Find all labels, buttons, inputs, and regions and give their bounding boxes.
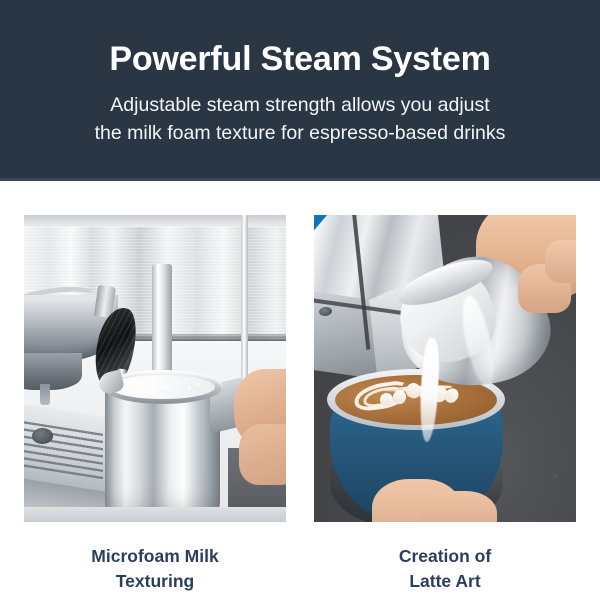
header-banner: Powerful Steam System Adjustable steam s… xyxy=(0,0,600,181)
promo-banner-page: Powerful Steam System Adjustable steam s… xyxy=(0,0,600,600)
header-subtitle: Adjustable steam strength allows you adj… xyxy=(95,92,506,147)
hand-fingers xyxy=(239,424,286,485)
caption-microfoam-line-2: Texturing xyxy=(24,569,286,594)
photo-microfoam-milk-texturing xyxy=(24,215,286,522)
feature-panel-latte-art: Creation of Latte Art xyxy=(314,215,576,595)
finger-holding-cup xyxy=(419,491,498,522)
caption-latte-art-line-2: Latte Art xyxy=(314,569,576,594)
portafilter-spout xyxy=(40,384,50,405)
microfoam-bubbles xyxy=(118,376,207,396)
photo-bottom-edge xyxy=(24,507,286,522)
page-title: Powerful Steam System xyxy=(109,40,490,79)
caption-microfoam: Microfoam Milk Texturing xyxy=(24,544,286,595)
portafilter xyxy=(24,353,82,390)
caption-latte-art: Creation of Latte Art xyxy=(314,544,576,595)
header-subtitle-line-2: the milk foam texture for espresso-based… xyxy=(95,120,506,148)
caption-latte-art-line-1: Creation of xyxy=(314,544,576,569)
drip-tray-hole xyxy=(32,428,53,443)
caption-microfoam-line-1: Microfoam Milk xyxy=(24,544,286,569)
feature-panel-microfoam: Microfoam Milk Texturing xyxy=(24,215,286,595)
feature-panels: Microfoam Milk Texturing xyxy=(24,215,576,595)
hand-finger-thumb xyxy=(545,240,576,283)
header-subtitle-line-1: Adjustable steam strength allows you adj… xyxy=(95,92,506,120)
photo-creation-of-latte-art xyxy=(314,215,576,522)
